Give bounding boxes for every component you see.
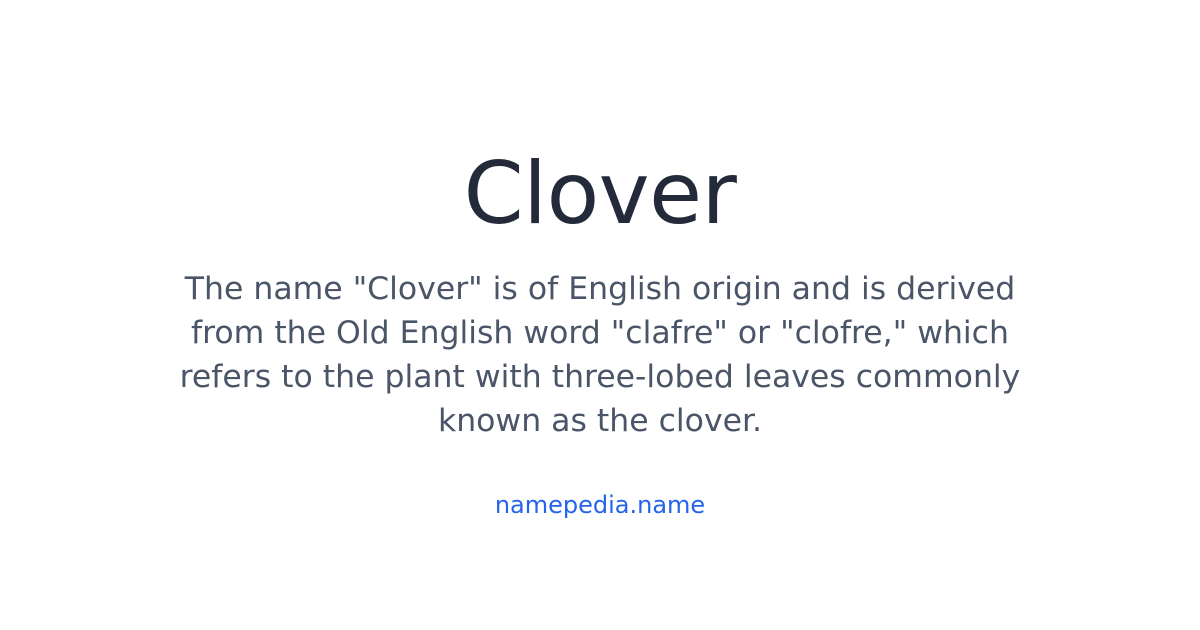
page-title: Clover [464, 150, 737, 239]
site-link[interactable]: namepedia.name [495, 489, 705, 521]
name-description-text: The name "Clover" is of English origin a… [150, 267, 1050, 443]
footer: namepedia.name [80, 489, 1120, 521]
name-meaning-card: Clover The name "Clover" is of English o… [0, 0, 1200, 630]
